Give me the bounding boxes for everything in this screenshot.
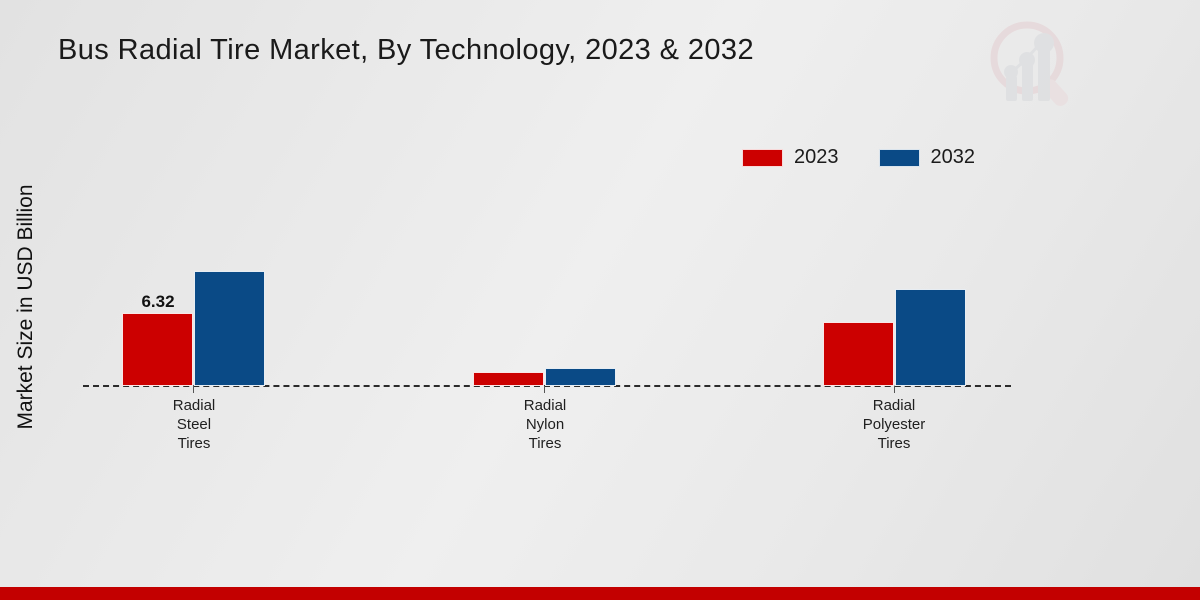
x-tick-radial-steel-tires (193, 386, 194, 393)
chart-figure: Bus Radial Tire Market, By Technology, 2… (0, 0, 1200, 600)
bar-2032-radial-polyester-tires[interactable] (895, 289, 966, 386)
x-label-line-3: Tires (794, 434, 994, 453)
x-label-line-3: Tires (445, 434, 645, 453)
footer-accent-bar (0, 587, 1200, 600)
x-tick-radial-polyester-tires (894, 386, 895, 393)
bar-value-2023-radial-steel-tires: 6.32 (113, 292, 203, 312)
plot-area: 6.32 Radial Steel Tires Radial Nylon Tir… (0, 0, 1200, 600)
x-tick-radial-nylon-tires (544, 386, 545, 393)
x-label-line-1: Radial (794, 396, 994, 415)
x-label-line-1: Radial (445, 396, 645, 415)
x-label-line-2: Steel (94, 415, 294, 434)
x-label-line-2: Nylon (445, 415, 645, 434)
bar-2023-radial-steel-tires[interactable] (122, 313, 193, 386)
x-label-radial-steel-tires: Radial Steel Tires (94, 396, 294, 453)
bar-2032-radial-nylon-tires[interactable] (545, 368, 616, 386)
bar-2023-radial-nylon-tires[interactable] (473, 372, 544, 386)
x-label-radial-polyester-tires: Radial Polyester Tires (794, 396, 994, 453)
bar-2032-radial-steel-tires[interactable] (194, 271, 265, 386)
x-label-line-1: Radial (94, 396, 294, 415)
bar-2023-radial-polyester-tires[interactable] (823, 322, 894, 386)
x-label-line-2: Polyester (794, 415, 994, 434)
x-label-line-3: Tires (94, 434, 294, 453)
x-label-radial-nylon-tires: Radial Nylon Tires (445, 396, 645, 453)
